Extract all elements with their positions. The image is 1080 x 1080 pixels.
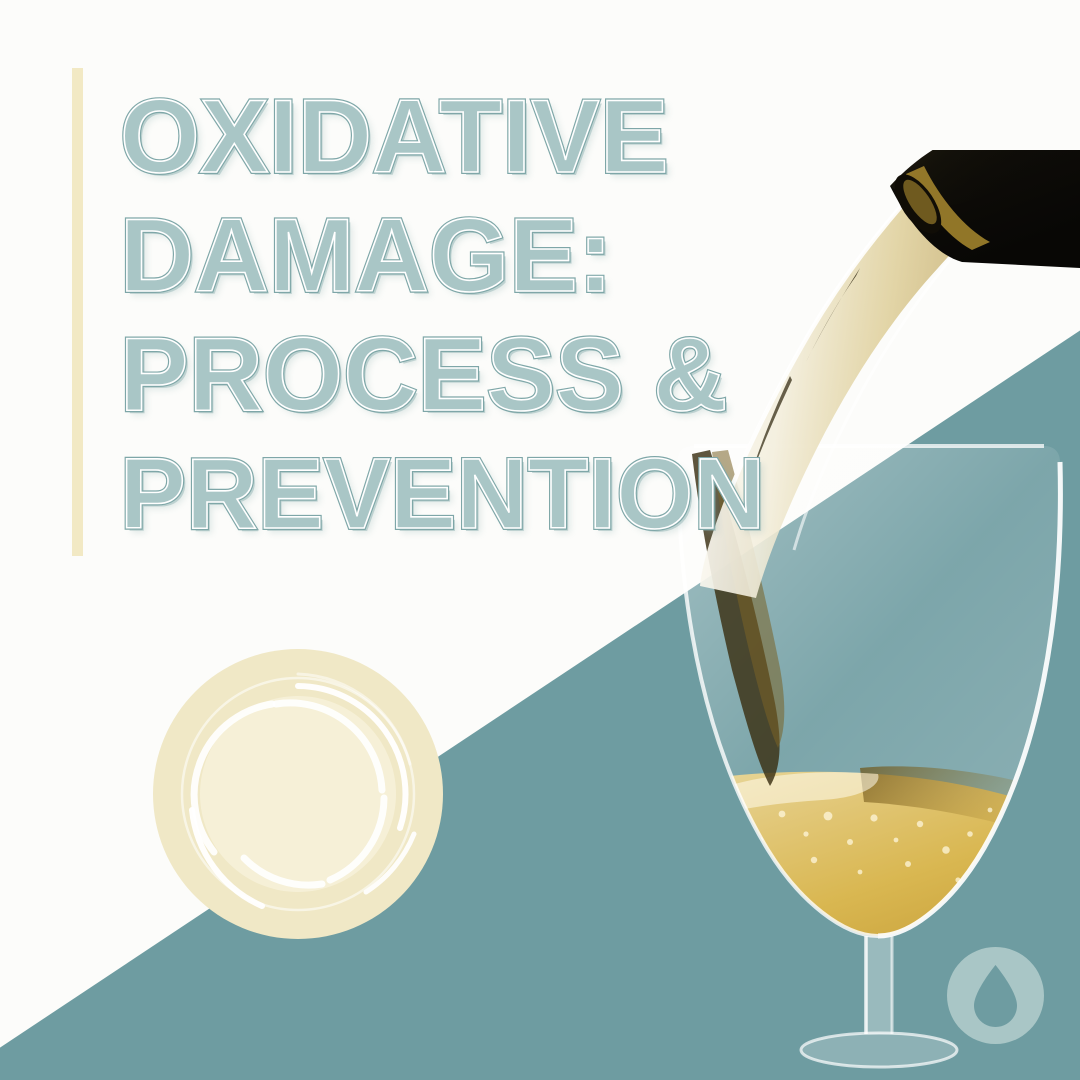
water-drop-logo[interactable] (947, 947, 1044, 1044)
wine-pour-photo (560, 150, 1080, 1080)
glass-stem (866, 936, 892, 1034)
concentric-rings-ornament (152, 648, 444, 940)
vertical-cream-rule (72, 68, 83, 556)
poster-canvas: OXIDATIVE DAMAGE: PROCESS & PREVENTION (0, 0, 1080, 1080)
